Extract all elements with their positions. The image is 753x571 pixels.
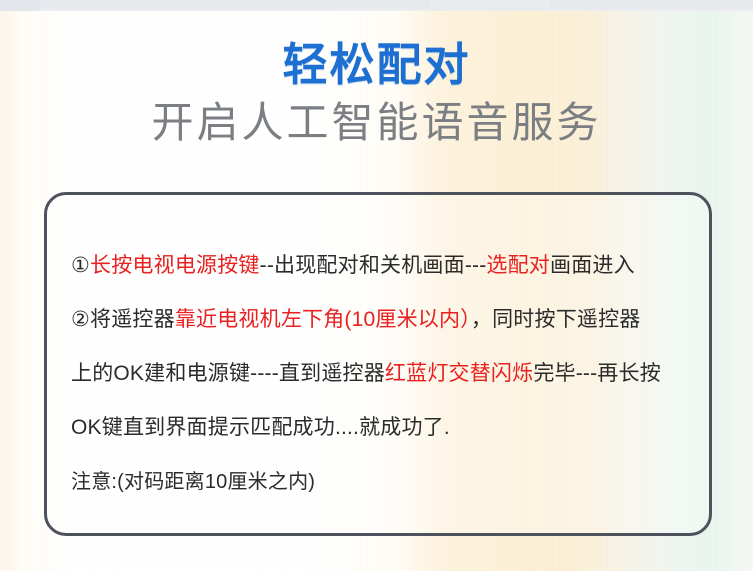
instruction-note-line: 注意:(对码距离10厘米之内) [71, 455, 691, 509]
top-strip [0, 0, 753, 11]
top-strip-segment-mid [430, 0, 550, 11]
instruction-segment: 红蓝灯交替闪烁 [385, 362, 533, 385]
instruction-line: OK键直到界面提示匹配成功....就成功了. [71, 401, 691, 455]
instruction-line: ①长按电视电源按键--出现配对和关机画面---选配对画面进入 [71, 239, 691, 293]
header: 轻松配对 开启人工智能语音服务 [0, 11, 753, 146]
instruction-segment: 完毕---再长按 [533, 362, 661, 385]
instruction-segment: ① [71, 254, 90, 277]
instruction-segment: 注意:(对码距离10厘米之内) [71, 471, 315, 493]
instruction-segment: 上的OK建和电源键----直到遥控器 [71, 362, 385, 385]
instruction-segment: ②将遥控器 [71, 308, 175, 331]
instruction-segment: 靠近电视机左下角(10厘米以内） [175, 308, 471, 331]
page-subtitle: 开启人工智能语音服务 [0, 88, 753, 145]
promo-page: 轻松配对 开启人工智能语音服务 ①长按电视电源按键--出现配对和关机画面---选… [0, 0, 753, 571]
instruction-segment: ，同时按下遥控器 [471, 308, 641, 331]
instruction-segment: 长按电视电源按键 [90, 254, 260, 277]
instruction-segment: OK键直到界面提示匹配成功....就成功了. [71, 416, 450, 439]
page-title: 轻松配对 [0, 11, 753, 88]
instruction-segment: 选配对 [486, 254, 550, 277]
instruction-line: ②将遥控器靠近电视机左下角(10厘米以内），同时按下遥控器 [71, 293, 691, 347]
instruction-line: 上的OK建和电源键----直到遥控器红蓝灯交替闪烁完毕---再长按 [71, 347, 691, 401]
instruction-segment: --出现配对和关机画面--- [260, 254, 487, 277]
instructions-box: ①长按电视电源按键--出现配对和关机画面---选配对画面进入 ②将遥控器靠近电视… [44, 192, 712, 536]
top-strip-segment-left [0, 0, 40, 11]
instruction-segment: 画面进入 [550, 254, 635, 277]
